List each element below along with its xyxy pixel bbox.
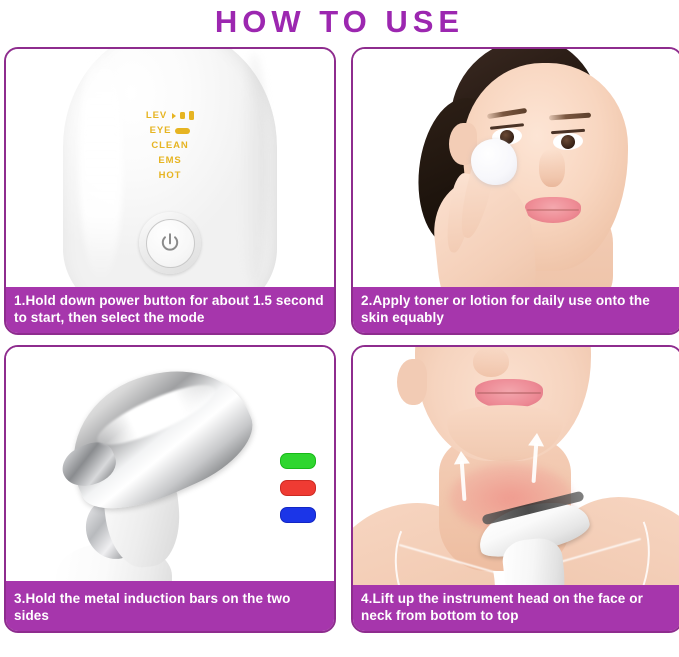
led-label-ems: EMS (158, 153, 181, 168)
blue-led (280, 507, 316, 523)
model-nose (539, 149, 565, 187)
led-bar-eye-icon (175, 128, 190, 134)
step-4-illustration (353, 347, 679, 585)
led-row-hot: HOT (104, 168, 236, 183)
model-ear (397, 359, 427, 405)
step-panel-2: 2.Apply toner or lotion for daily use on… (351, 47, 679, 335)
device-edge-shadow (241, 53, 267, 283)
step-4-caption: 4.Lift up the instrument head on the fac… (353, 585, 679, 631)
step-1-caption: 1.Hold down power button for about 1.5 s… (6, 287, 334, 333)
device-led-panel: LEV EYE CLEAN EMS HOT (104, 108, 236, 183)
led-row-ems: EMS (104, 153, 236, 168)
step-3-caption: 3.Hold the metal induction bars on the t… (6, 581, 334, 631)
led-row-eye: EYE (104, 123, 236, 138)
led-label-lev: LEV (146, 108, 167, 123)
green-led (280, 453, 316, 469)
power-icon (158, 231, 182, 255)
step-panel-3: 3.Hold the metal induction bars on the t… (4, 345, 336, 633)
model-lip-line (477, 392, 541, 394)
step-2-caption: 2.Apply toner or lotion for daily use on… (353, 287, 679, 333)
up-arrow-left-icon (453, 450, 469, 451)
red-led (280, 480, 316, 496)
device-in-use (477, 495, 595, 585)
led-label-hot: HOT (159, 168, 182, 183)
power-button-inner[interactable] (146, 219, 195, 268)
cream-dollop (471, 139, 517, 185)
step-1-illustration: LEV EYE CLEAN EMS HOT (6, 49, 334, 287)
model-lip-line (527, 209, 579, 211)
step-3-illustration (6, 347, 334, 581)
power-button[interactable] (139, 212, 201, 274)
step-panel-1: LEV EYE CLEAN EMS HOT (4, 47, 336, 335)
up-arrow-right-icon (529, 432, 545, 433)
steps-grid: LEV EYE CLEAN EMS HOT (0, 47, 679, 657)
led-bar-2-icon (189, 111, 194, 120)
step-2-illustration (353, 49, 679, 287)
led-bar-1-icon (180, 112, 185, 119)
model-iris-right (561, 134, 576, 149)
led-caret-icon (172, 113, 176, 119)
led-row-clean: CLEAN (104, 138, 236, 153)
led-label-clean: CLEAN (151, 138, 188, 153)
led-row-level: LEV (104, 108, 236, 123)
model-nose (473, 347, 509, 377)
step-panel-4: 4.Lift up the instrument head on the fac… (351, 345, 679, 633)
page-title: HOW TO USE (0, 0, 679, 42)
led-color-legend (280, 453, 316, 523)
led-label-eye: EYE (150, 123, 172, 138)
